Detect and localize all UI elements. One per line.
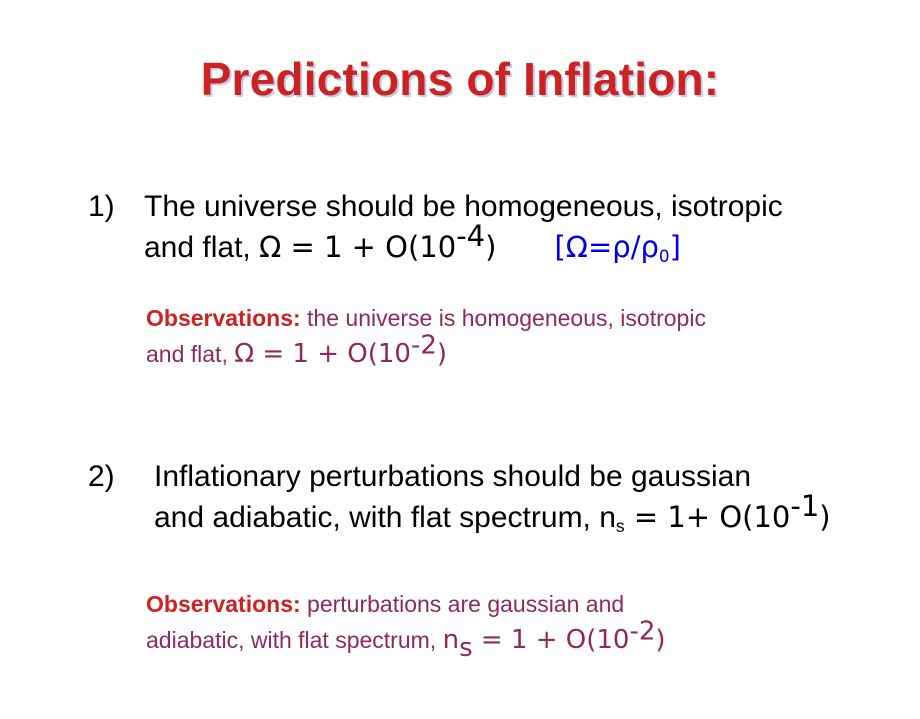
- list-item-2-line-1: Inflationary perturbations should be gau…: [154, 456, 831, 497]
- note-bracket-open: [: [554, 230, 565, 264]
- note-omega-symbol: Ω: [566, 230, 588, 264]
- observations-2-ns-subscript: s: [459, 633, 473, 663]
- observations-2-exponent: -2: [629, 616, 655, 646]
- note-rho-symbol: ρ: [612, 230, 630, 264]
- observations-block-1: Observations: the universe is homogeneou…: [146, 300, 706, 372]
- omega-definition-note: [Ω=ρ/ρ0]: [554, 230, 680, 264]
- observations-block-2: Observations: perturbations are gaussian…: [146, 586, 666, 658]
- list-item-2-line-2: and adiabatic, with flat spectrum, ns = …: [154, 497, 831, 538]
- observations-2-line-1: Observations: perturbations are gaussian…: [146, 586, 666, 622]
- observations-1-paren-close: ): [437, 339, 447, 369]
- omega-symbol: Ω: [259, 230, 281, 264]
- observations-2-line-2: adiabatic, with flat spectrum, ns = 1 + …: [146, 622, 666, 658]
- observations-1-label: Observations:: [146, 305, 301, 331]
- list-item-1-marker: 1): [88, 186, 144, 227]
- omega-paren-close: ): [485, 230, 496, 264]
- observations-1-text: the universe is homogeneous, isotropic: [301, 305, 706, 331]
- list-item-2-marker: 2): [88, 456, 154, 497]
- list-item-2-body: Inflationary perturbations should be gau…: [154, 456, 831, 538]
- observations-2-paren-close: ): [655, 625, 665, 655]
- observations-2-ns-symbol: n: [443, 625, 459, 655]
- observations-2-equation: = 1 + O(10: [473, 625, 630, 655]
- line2-prefix: and adiabatic, with flat spectrum, n: [154, 501, 616, 534]
- ns-paren-close: ): [819, 500, 830, 534]
- note-rho-subscript: 0: [659, 246, 670, 266]
- page-title: Predictions of Inflation:: [0, 52, 920, 106]
- ns-exponent: -1: [790, 489, 819, 523]
- omega-equation: = 1 + O(10: [281, 230, 456, 264]
- note-bracket-close: ]: [670, 230, 681, 264]
- list-item-1: 1) The universe should be homogeneous, i…: [88, 186, 783, 268]
- omega-exponent: -4: [456, 219, 485, 253]
- observations-2-text: perturbations are gaussian and: [301, 591, 625, 617]
- ns-subscript: s: [616, 516, 625, 536]
- ns-equation: = 1+ O(10: [625, 500, 791, 534]
- list-item-1-line-2: and flat, Ω = 1 + O(10-4)[Ω=ρ/ρ0]: [144, 227, 783, 268]
- observations-1-line-2: and flat, Ω = 1 + O(10-2): [146, 336, 706, 372]
- observations-1-omega-symbol: Ω: [234, 339, 254, 369]
- observations-1-equation: = 1 + O(10: [254, 339, 411, 369]
- list-item-2: 2) Inflationary perturbations should be …: [88, 456, 831, 538]
- observations-1-line2-prefix: and flat,: [146, 341, 234, 367]
- note-rho0-symbol: ρ: [640, 230, 658, 264]
- observations-2-label: Observations:: [146, 591, 301, 617]
- list-item-1-body: The universe should be homogeneous, isot…: [144, 186, 783, 268]
- observations-2-line2-prefix: adiabatic, with flat spectrum,: [146, 627, 443, 653]
- line2-prefix: and flat,: [144, 231, 259, 264]
- observations-1-exponent: -2: [411, 330, 437, 360]
- slide-canvas: Predictions of Inflation: 1) The univers…: [0, 0, 920, 719]
- note-equals: =: [588, 230, 612, 264]
